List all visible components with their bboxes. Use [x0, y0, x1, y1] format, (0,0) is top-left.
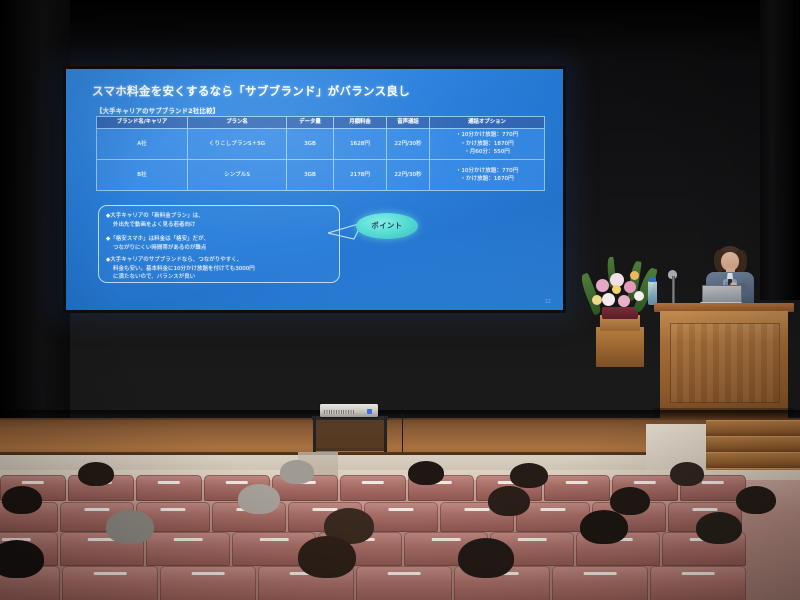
seat-number-tag [160, 508, 185, 511]
callout-bubble: ◆大手キャリアの「新料金プラン」は、 外出先で動画をよく見る若者向け ◆「格安ス… [98, 205, 340, 283]
audience-head [298, 536, 356, 578]
step [706, 420, 800, 436]
seat-number-tag [584, 572, 617, 575]
audience-head [696, 512, 742, 544]
flower-bloom [618, 295, 630, 307]
point-badge-label: ポイント [356, 220, 418, 231]
slide-page-number: 12 [545, 299, 551, 305]
point-badge: ポイント [356, 213, 418, 239]
audience-head [280, 460, 314, 484]
seat-number-tag [174, 538, 203, 541]
seat-number-tag [388, 572, 421, 575]
option-line: ・10分かけ放題：770円 [431, 131, 543, 139]
table-header-row: ブランド名/キャリア プラン名 データ量 月額料金 音声通話 通話オプション [97, 117, 545, 129]
seat [544, 475, 610, 501]
audience-head [458, 538, 514, 578]
column-header-brand: ブランド名/キャリア [97, 117, 188, 129]
audience-head [580, 510, 628, 544]
cell-brand-a: A社 [97, 129, 188, 160]
cell-data-b: 3GB [287, 160, 334, 191]
seat-number-tag [84, 508, 109, 511]
seat-number-tag [158, 481, 180, 484]
seat [160, 566, 256, 600]
seat-number-tag [634, 481, 656, 484]
auditorium-photo: スマホ料金を安くするなら「サブブランド」がバランス良し 【大手キャリアのサブブラ… [0, 0, 800, 600]
seat [552, 566, 648, 600]
cell-plan-a: くりこしプランS＋5G [188, 129, 287, 160]
column-header-plan: プラン名 [188, 117, 287, 129]
table-row: B社 シンプルS 3GB 2178円 22円/30秒 ・10分かけ放題：770円… [97, 160, 545, 191]
callout-bullet-3: ◆大手キャリアのサブブランドなら、つながりやすく、 料金も安い。基本料金に10分… [106, 256, 255, 282]
flower-stand-lower [596, 327, 644, 367]
cell-voice-a: 22円/30秒 [387, 129, 430, 160]
audience-head [736, 486, 776, 514]
callout-bullet-1: ◆大手キャリアの「新料金プラン」は、 外出先で動画をよく見る若者向け [106, 212, 204, 229]
step [706, 452, 800, 468]
projector-indicator-led [367, 409, 372, 414]
audience-head [2, 486, 42, 514]
bullet-line: ◆大手キャリアのサブブランドなら、つながりやすく、 [106, 257, 242, 263]
option-line: ・10分かけ放題：770円 [431, 167, 543, 175]
seat-number-tag [692, 508, 717, 511]
flower-base [602, 307, 638, 319]
audience-head [610, 487, 650, 515]
seat [146, 532, 230, 566]
flower-bloom [602, 293, 615, 306]
cell-plan-b: シンプルS [188, 160, 287, 191]
seat-number-tag [682, 572, 715, 575]
bullet-line: 外出先で動画をよく見る若者向け [106, 221, 204, 230]
microphone-stand [672, 276, 675, 304]
seat [62, 566, 158, 600]
seat-number-tag [518, 538, 547, 541]
audience-head [408, 461, 444, 485]
slide-subtitle: 【大手キャリアのサブブランド2社比較】 [96, 106, 219, 115]
table-row: A社 くりこしプランS＋5G 3GB 1628円 22円/30秒 ・10分かけ放… [97, 129, 545, 160]
seat [364, 502, 438, 532]
projected-slide: スマホ料金を安くするなら「サブブランド」がバランス良し 【大手キャリアのサブブラ… [66, 69, 563, 310]
slide-title: スマホ料金を安くするなら「サブブランド」がバランス良し [92, 83, 542, 99]
seat [650, 566, 746, 600]
bullet-line: 料金も安い。基本料金に10分かけ放題を付けても3000円 [106, 265, 255, 274]
seat-number-tag [22, 481, 44, 484]
seat-number-tag [260, 538, 289, 541]
cell-price-a: 1628円 [334, 129, 387, 160]
flower-bloom [596, 279, 609, 292]
column-header-data: データ量 [287, 117, 334, 129]
bullet-line: ◆大手キャリアの「新料金プラン」は、 [106, 213, 204, 219]
bullet-line: つながりにくい時間帯があるのが難点 [106, 244, 209, 253]
bullet-line: に満たないので、バランスが良い [106, 273, 255, 282]
cell-voice-b: 22円/30秒 [387, 160, 430, 191]
seat-number-tag [192, 572, 225, 575]
projector-vent [324, 410, 354, 414]
audience-head [238, 484, 280, 514]
seat-number-tag [432, 538, 461, 541]
option-line: ・かけ放題：1870円 [431, 140, 543, 148]
option-line: ・かけ放題：1870円 [431, 175, 543, 183]
seat-number-tag [702, 481, 724, 484]
projector-device [320, 404, 378, 417]
stage-curtain-left [0, 0, 70, 430]
cell-options-b: ・10分かけ放題：770円 ・かけ放題：1870円 [430, 160, 545, 191]
column-header-voice: 音声通話 [387, 117, 430, 129]
stage-curtain-right [760, 0, 800, 300]
water-bottle [648, 281, 657, 305]
callout-bullet-2: ◆「格安スマホ」は料金は「格安」だが、 つながりにくい時間帯があるのが難点 [106, 235, 209, 252]
seat [340, 475, 406, 501]
option-line: ・月60分：550円 [431, 148, 543, 156]
podium-wood-panel [670, 323, 780, 403]
flower-bloom [624, 281, 636, 293]
flower-bloom [592, 295, 602, 305]
cell-price-b: 2178円 [334, 160, 387, 191]
audience-head [78, 462, 114, 486]
flower-arrangement [578, 255, 664, 367]
seat-number-tag [94, 572, 127, 575]
column-header-options: 通話オプション [430, 117, 545, 129]
seat [136, 475, 202, 501]
cell-data-a: 3GB [287, 129, 334, 160]
cell-brand-b: B社 [97, 160, 188, 191]
flower-bloom [612, 285, 621, 294]
seat-number-tag [566, 481, 588, 484]
audience-seating [0, 480, 800, 600]
ceiling-shadow [0, 0, 800, 60]
comparison-table: ブランド名/キャリア プラン名 データ量 月額料金 音声通話 通話オプション A… [96, 116, 545, 191]
seat [356, 566, 452, 600]
audience-head [106, 510, 154, 544]
podium [654, 303, 794, 421]
seat-number-tag [226, 481, 248, 484]
cell-options-a: ・10分かけ放題：770円 ・かけ放題：1870円 ・月60分：550円 [430, 129, 545, 160]
flower-bloom [630, 271, 639, 280]
bullet-line: ◆「格安スマホ」は料金は「格安」だが、 [106, 236, 209, 242]
bottle-cap [649, 277, 656, 282]
audience-head [0, 540, 44, 578]
audience-head [510, 463, 548, 488]
flower-bloom [634, 291, 644, 301]
audience-head [488, 486, 530, 516]
seat-number-tag [464, 508, 489, 511]
column-header-price: 月額料金 [334, 117, 387, 129]
seat-number-tag [540, 508, 565, 511]
seat-number-tag [388, 508, 413, 511]
audience-head [670, 462, 704, 486]
step [706, 436, 800, 452]
seat-number-tag [362, 481, 384, 484]
